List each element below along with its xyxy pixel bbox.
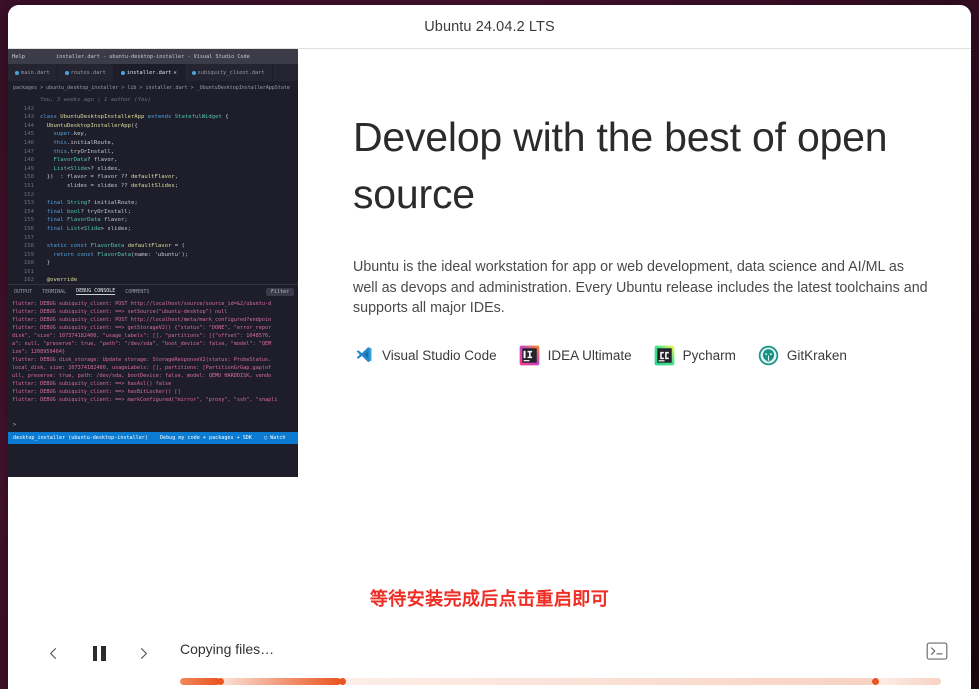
- progress-segment: [874, 678, 941, 685]
- code-text: final FlavorData flavor;: [40, 216, 128, 225]
- vscode-tabbar: main.dart routes.dart installer.dart ✕ s…: [8, 64, 298, 81]
- vscode-tab-subiquity: subiquity_client.dart: [185, 64, 273, 81]
- line-number: 145: [8, 130, 40, 139]
- pause-icon: [93, 646, 106, 661]
- vscode-panel-tabs: OUTPUT TERMINAL DEBUG CONSOLE COMMENTS F…: [8, 284, 298, 298]
- terminal-icon: [926, 642, 948, 662]
- line-number: 158: [8, 242, 40, 251]
- code-blame-line: You, 3 weeks ago | 1 author (You): [8, 96, 298, 105]
- close-icon: ✕: [173, 70, 176, 76]
- vscode-icon: [353, 345, 374, 366]
- show-terminal-button[interactable]: [923, 638, 951, 666]
- console-log-line: flutter: DEBUG subiquity_client: ==> mar…: [12, 396, 294, 404]
- code-line: 143class UbuntuDesktopInstallerApp exten…: [8, 113, 298, 122]
- vscode-window-title: installer.dart - ubuntu-desktop-installe…: [8, 54, 298, 60]
- code-text: }: [40, 259, 50, 268]
- code-line: 151 slides = slides ?? defaultSlides;: [8, 182, 298, 191]
- git-blame-text: You, 3 weeks ago | 1 author (You): [40, 96, 151, 105]
- line-number: 159: [8, 251, 40, 260]
- app-label: GitKraken: [787, 348, 847, 363]
- vscode-tab-label: routes.dart: [71, 70, 106, 76]
- code-text: this.tryOrInstall,: [40, 148, 114, 157]
- console-log-line: flutter: DEBUG disk_storage: Update stor…: [12, 356, 294, 364]
- panel-filter-input: Filter: [266, 288, 294, 296]
- code-text: final List<Slide> slides;: [40, 225, 131, 234]
- line-number: 154: [8, 208, 40, 217]
- line-number: 149: [8, 165, 40, 174]
- code-text: super.key,: [40, 130, 87, 139]
- code-line: 159 return const FlavorData(name: 'ubunt…: [8, 251, 298, 260]
- dart-file-icon: [192, 71, 196, 75]
- code-lines: 142143class UbuntuDesktopInstallerApp ex…: [8, 105, 298, 284]
- code-text: static const FlavorData defaultFlavor = …: [40, 242, 185, 251]
- line-number: 150: [8, 173, 40, 182]
- annotation-reboot-note: 等待安装完成后点击重启即可: [8, 585, 971, 611]
- panel-tab-comments: COMMENTS: [125, 289, 149, 295]
- statusbar-debug-config: Debug my code + packages + SDK: [160, 435, 252, 441]
- line-number: 155: [8, 216, 40, 225]
- slideshow-progress-indicator[interactable]: [180, 678, 941, 685]
- vscode-statusbar: desktop_installer (ubuntu-desktop-instal…: [8, 432, 298, 444]
- vscode-tab-label: installer.dart: [127, 70, 172, 76]
- code-line: 149 List<Slide>? slides,: [8, 165, 298, 174]
- code-line: 142: [8, 105, 298, 114]
- line-number: 153: [8, 199, 40, 208]
- console-log-line: ize": 1208959464}: [12, 348, 294, 356]
- app-label: IDEA Ultimate: [548, 348, 632, 363]
- install-status-text: Copying files…: [180, 641, 274, 657]
- code-line: 146 this.initialRoute,: [8, 139, 298, 148]
- console-log-line: a": null, "preserve": true, "path": "/de…: [12, 340, 294, 348]
- intellij-idea-icon: [519, 345, 540, 366]
- code-line: 156 final List<Slide> slides;: [8, 225, 298, 234]
- code-text: class UbuntuDesktopInstallerApp extends …: [40, 113, 229, 122]
- pause-slideshow-button[interactable]: [84, 638, 114, 668]
- vscode-tab-routes: routes.dart: [58, 64, 114, 81]
- console-log-line: local_disk, size: 107374182400, usageLab…: [12, 364, 294, 372]
- line-number: 162: [8, 276, 40, 284]
- code-text: FlavorData? flavor,: [40, 156, 117, 165]
- code-text: @override: [40, 276, 77, 284]
- watch-circle-icon: ◯: [264, 435, 267, 441]
- code-text: }) : flavor = flavor ?? defaultFlavor,: [40, 173, 178, 182]
- console-log-line: flutter: DEBUG subiquity_client: POST ht…: [12, 300, 294, 308]
- code-text: UbuntuDesktopInstallerApp({: [40, 122, 138, 131]
- code-text: slides = slides ?? defaultSlides;: [40, 182, 178, 191]
- panel-tab-debug-console: DEBUG CONSOLE: [76, 288, 115, 295]
- line-number: 146: [8, 139, 40, 148]
- code-line: 147 this.tryOrInstall,: [8, 148, 298, 157]
- progress-dot: [217, 678, 224, 685]
- console-log-line: flutter: DEBUG subiquity_client: ==> set…: [12, 308, 294, 316]
- line-number: 157: [8, 234, 40, 243]
- console-log-line: flutter: DEBUG subiquity_client: ==> get…: [12, 324, 294, 332]
- app-label: Pycharm: [683, 348, 736, 363]
- console-prompt: >: [8, 422, 298, 432]
- statusbar-project: desktop_installer (ubuntu-desktop-instal…: [13, 435, 148, 441]
- vscode-debug-console: flutter: DEBUG subiquity_client: POST ht…: [8, 298, 298, 422]
- slideshow-image-vscode: Help installer.dart - ubuntu-desktop-ins…: [8, 49, 298, 477]
- dart-file-icon: [15, 71, 19, 75]
- vscode-tab-label: main.dart: [21, 70, 50, 76]
- progress-segment: [220, 678, 342, 685]
- window-title: Ubuntu 24.04.2 LTS: [424, 19, 555, 35]
- line-number: 161: [8, 268, 40, 277]
- code-text: return const FlavorData(name: 'ubuntu');: [40, 251, 188, 260]
- console-log-line: ull, preserve: true, path: /dev/sda, boo…: [12, 372, 294, 380]
- progress-dot: [872, 678, 879, 685]
- code-line: 157: [8, 234, 298, 243]
- next-slide-button[interactable]: [128, 638, 158, 668]
- window-titlebar: Ubuntu 24.04.2 LTS: [8, 5, 971, 49]
- code-line: 152: [8, 191, 298, 200]
- chevron-right-icon: [137, 647, 150, 660]
- line-number: 152: [8, 191, 40, 200]
- console-log-line: disk", "size": 107374182400, "usage_labe…: [12, 332, 294, 340]
- pycharm-icon: [654, 345, 675, 366]
- vscode-tab-label: subiquity_client.dart: [198, 70, 265, 76]
- vscode-breadcrumb: packages > ubuntu_desktop_installer > li…: [8, 81, 298, 94]
- code-line: 160 }: [8, 259, 298, 268]
- app-gitkraken: GitKraken: [758, 345, 847, 366]
- slide-paragraph: Ubuntu is the ideal workstation for app …: [353, 257, 928, 319]
- code-line: 158 static const FlavorData defaultFlavo…: [8, 242, 298, 251]
- console-log-line: flutter: DEBUG subiquity_client: ==> has…: [12, 380, 294, 388]
- console-log-line: flutter: DEBUG subiquity_client: POST ht…: [12, 316, 294, 324]
- previous-slide-button[interactable]: [38, 638, 68, 668]
- statusbar-watch: ◯ Watch: [264, 435, 286, 441]
- app-idea-ultimate: IDEA Ultimate: [519, 345, 632, 366]
- vscode-tab-main: main.dart: [8, 64, 58, 81]
- code-text: List<Slide>? slides,: [40, 165, 121, 174]
- vscode-tab-installer: installer.dart ✕: [114, 64, 185, 81]
- vscode-menubar: Help installer.dart - ubuntu-desktop-ins…: [8, 49, 298, 64]
- gitkraken-icon: [758, 345, 779, 366]
- app-pycharm: Pycharm: [654, 345, 736, 366]
- line-number: 148: [8, 156, 40, 165]
- code-line: 162 @override: [8, 276, 298, 284]
- console-log-line: flutter: DEBUG subiquity_client: ==> has…: [12, 388, 294, 396]
- slide-headline: Develop with the best of open source: [353, 109, 933, 223]
- line-number: 142: [8, 105, 40, 114]
- progress-dot: [339, 678, 346, 685]
- code-line: 153 final String? initialRoute;: [8, 199, 298, 208]
- panel-tab-terminal: TERMINAL: [42, 289, 66, 295]
- line-number: 143: [8, 113, 40, 122]
- code-line: 144 UbuntuDesktopInstallerApp({: [8, 122, 298, 131]
- code-line: 145 super.key,: [8, 130, 298, 139]
- line-number: 156: [8, 225, 40, 234]
- code-line: 148 FlavorData? flavor,: [8, 156, 298, 165]
- line-number: 151: [8, 182, 40, 191]
- dart-file-icon: [65, 71, 69, 75]
- line-number: 144: [8, 122, 40, 131]
- installer-bottom-bar: Copying files…: [8, 626, 971, 689]
- progress-segment: [341, 678, 874, 685]
- app-label: Visual Studio Code: [382, 348, 497, 363]
- line-number: 160: [8, 259, 40, 268]
- chevron-left-icon: [47, 647, 60, 660]
- code-line: 150 }) : flavor = flavor ?? defaultFlavo…: [8, 173, 298, 182]
- code-line: 161: [8, 268, 298, 277]
- code-text: final String? initialRoute;: [40, 199, 138, 208]
- dart-file-icon: [121, 71, 125, 75]
- code-text: this.initialRoute,: [40, 139, 114, 148]
- code-line: 155 final FlavorData flavor;: [8, 216, 298, 225]
- code-text: final bool? tryOrInstall;: [40, 208, 131, 217]
- app-logo-row: Visual Studio Code: [353, 345, 933, 366]
- app-visual-studio-code: Visual Studio Code: [353, 345, 497, 366]
- line-number: 147: [8, 148, 40, 157]
- vscode-code-area: You, 3 weeks ago | 1 author (You) 142143…: [8, 94, 298, 284]
- panel-tab-output: OUTPUT: [14, 289, 32, 295]
- code-line: 154 final bool? tryOrInstall;: [8, 208, 298, 217]
- installer-content: Help installer.dart - ubuntu-desktop-ins…: [8, 49, 971, 689]
- slide-text-pane: Develop with the best of open source Ubu…: [353, 109, 933, 366]
- progress-segment: [180, 678, 220, 685]
- installer-window: Ubuntu 24.04.2 LTS Help installer.dart -…: [8, 5, 971, 689]
